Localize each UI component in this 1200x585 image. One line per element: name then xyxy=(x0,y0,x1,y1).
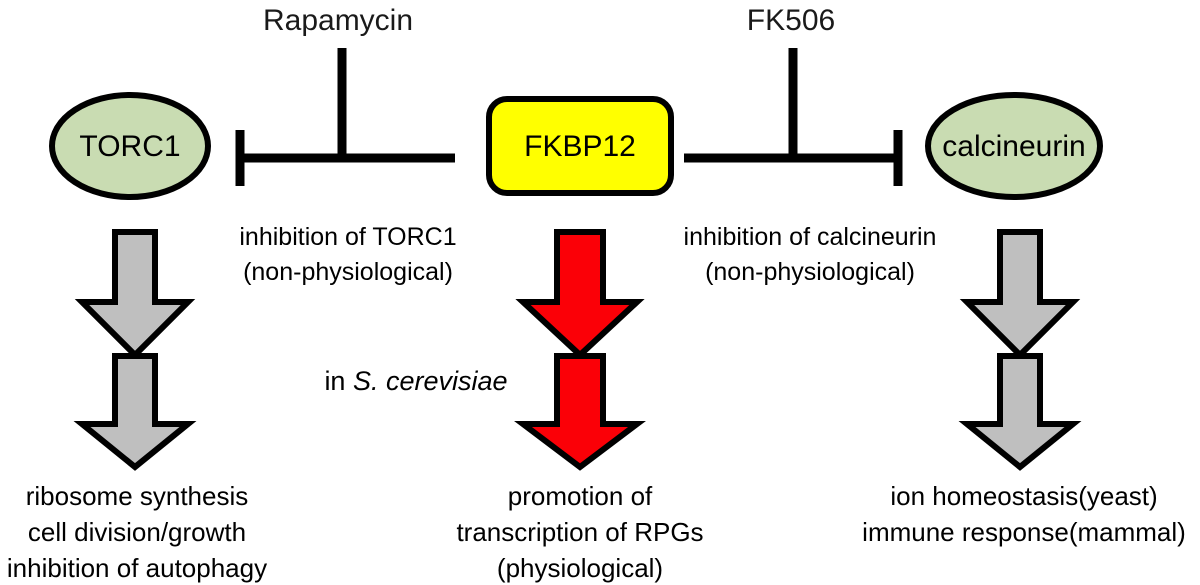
fkbp12-label: FKBP12 xyxy=(524,130,636,163)
right-annotation: inhibition of calcineurin (non-physiolog… xyxy=(684,223,937,286)
torc1-label: TORC1 xyxy=(79,130,180,163)
left-column-arrows xyxy=(82,232,188,467)
rapamycin-inhibition-connector xyxy=(240,48,455,186)
left-annotation-line1: inhibition of TORC1 xyxy=(239,223,456,251)
down-arrow-icon xyxy=(82,356,188,467)
right-outcome: ion homeostasis(yeast) immune response(m… xyxy=(862,481,1186,547)
down-arrow-icon xyxy=(967,232,1073,355)
left-annotation-line2: (non-physiological) xyxy=(243,258,453,286)
right-annotation-line1: inhibition of calcineurin xyxy=(684,223,937,251)
down-arrow-icon xyxy=(523,232,637,355)
left-outcome-line2: cell division/growth xyxy=(28,517,246,547)
right-column-arrows xyxy=(967,232,1073,467)
down-arrow-icon xyxy=(523,356,637,467)
species-name: S. cerevisiae xyxy=(353,366,508,396)
node-torc1[interactable]: TORC1 xyxy=(52,95,208,197)
pathway-diagram: Rapamycin FK506 TORC1 FKBP xyxy=(0,0,1200,585)
fk506-label: FK506 xyxy=(747,4,835,37)
center-species-annotation: in S. cerevisiae xyxy=(324,366,507,396)
calcineurin-label: calcineurin xyxy=(942,130,1085,163)
down-arrow-icon xyxy=(82,232,188,355)
left-annotation: inhibition of TORC1 (non-physiological) xyxy=(239,223,456,286)
right-outcome-line1: ion homeostasis(yeast) xyxy=(890,481,1157,511)
species-annotation-text: in S. cerevisiae xyxy=(324,366,507,396)
fk506-inhibition-connector xyxy=(684,48,902,186)
right-outcome-line2: immune response(mammal) xyxy=(862,517,1186,547)
left-outcome: ribosome synthesis cell division/growth … xyxy=(7,481,267,583)
down-arrow-icon xyxy=(967,356,1073,467)
center-outcome-line2: transcription of RPGs xyxy=(456,517,703,547)
species-prefix: in xyxy=(324,366,353,396)
center-column-arrows xyxy=(523,232,637,467)
node-calcineurin[interactable]: calcineurin xyxy=(928,95,1100,197)
right-annotation-line2: (non-physiological) xyxy=(705,258,915,286)
center-outcome: promotion of transcription of RPGs (phys… xyxy=(456,481,703,583)
pathway-canvas: Rapamycin FK506 TORC1 FKBP xyxy=(0,0,1200,585)
rapamycin-label: Rapamycin xyxy=(263,4,413,37)
left-outcome-line1: ribosome synthesis xyxy=(26,481,249,511)
center-outcome-line1: promotion of xyxy=(508,481,653,511)
left-outcome-line3: inhibition of autophagy xyxy=(7,553,267,583)
center-outcome-line3: (physiological) xyxy=(497,553,663,583)
node-fkbp12[interactable]: FKBP12 xyxy=(489,99,671,193)
